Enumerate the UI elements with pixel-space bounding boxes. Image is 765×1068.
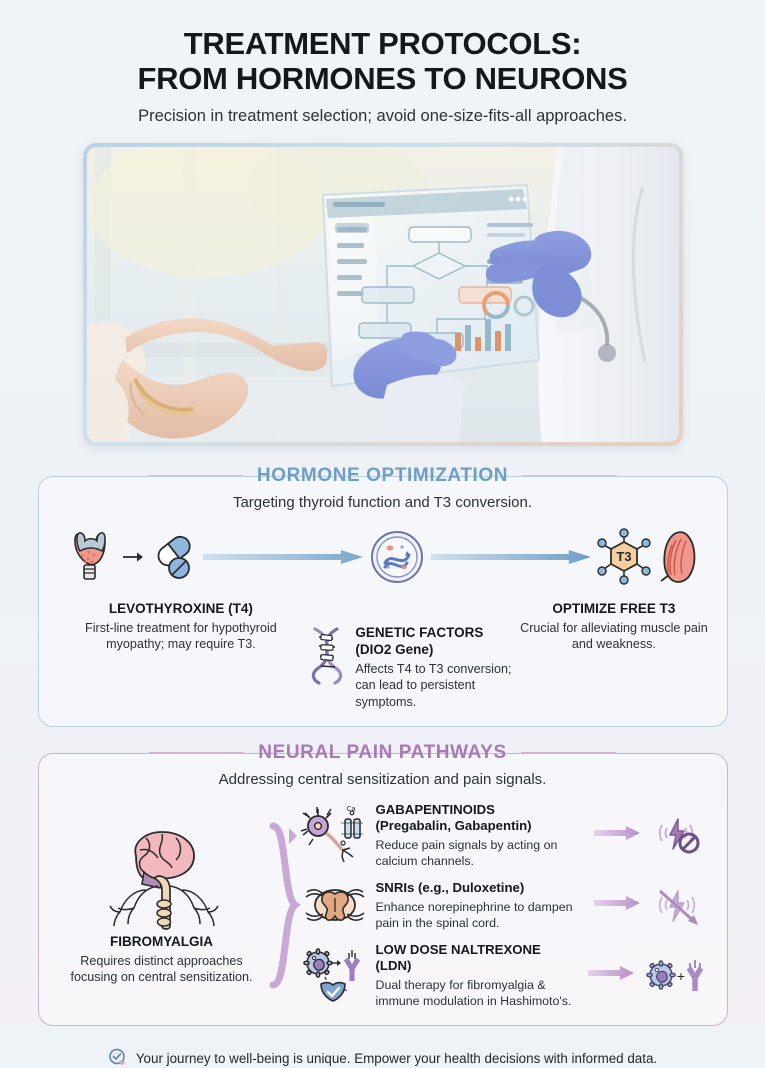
genetic-factors-label-2: (DIO2 Gene)	[355, 642, 519, 659]
treatment-rows: Ca GABAPENTINOIDS (Pregabalin, Gabapenti…	[303, 802, 707, 1009]
item-levothyroxine: LEVOTHYROXINE (T4) First-line treatment …	[57, 599, 306, 710]
hero-illustration	[87, 147, 679, 442]
thyroid-gland-icon	[65, 529, 115, 585]
snris-text: SNRIs (e.g., Duloxetine) Enhance norepin…	[376, 880, 585, 931]
infographic-page: Treatment Protocols: From Hormones to Ne…	[0, 0, 765, 1024]
t3-molecule-icon: T3	[597, 528, 651, 586]
neural-body: FIBROMYALGIA Requires distinct approache…	[39, 788, 727, 1025]
dna-helix-icon	[305, 625, 349, 685]
page-title: Treatment Protocols: From Hormones to Ne…	[0, 26, 765, 96]
section-title-hormone: Hormone Optimization	[243, 465, 522, 487]
pain-signal-blocked-icon	[654, 813, 704, 857]
rule-left	[148, 475, 243, 477]
ldn-desc: Dual therapy for fibromyalgia & immune m…	[376, 977, 579, 1009]
hormone-text-row: LEVOTHYROXINE (T4) First-line treatment …	[39, 595, 727, 726]
spinal-cord-cross-section-icon	[303, 882, 367, 928]
row-snris: SNRIs (e.g., Duloxetine) Enhance norepin…	[303, 880, 707, 931]
row-gabapentinoids: Ca GABAPENTINOIDS (Pregabalin, Gabapenti…	[303, 802, 707, 869]
snris-label: SNRIs (e.g., Duloxetine)	[376, 880, 585, 897]
footer-text: Your journey to well-being is unique. Em…	[136, 1051, 657, 1066]
rule-left	[149, 752, 244, 754]
rule-right	[522, 475, 617, 477]
optimize-t3-desc: Crucial for alleviating muscle pain and …	[519, 620, 708, 653]
snris-desc: Enhance norepinephrine to dampen pain in…	[376, 899, 585, 931]
brain-spinal-nerves-icon	[106, 826, 218, 930]
gabapentinoids-label-2: (Pregabalin, Gabapentin)	[376, 818, 585, 835]
fibromyalgia-desc: Requires distinct approaches focusing on…	[57, 953, 267, 986]
levothyroxine-label: LEVOTHYROXINE (T4)	[57, 601, 306, 618]
pain-signal-dampened-icon	[654, 883, 704, 927]
optimize-t3-label: OPTIMIZE FREE T3	[519, 601, 708, 618]
item-optimize-free-t3: OPTIMIZE FREE T3 Crucial for alleviating…	[519, 599, 708, 710]
neuron-calcium-channel-icon: Ca	[303, 807, 367, 863]
title-line-2: From Hormones to Neurons	[0, 61, 765, 96]
immune-cell-antibody-icon: +	[645, 953, 707, 997]
brace-icon	[271, 818, 299, 993]
plus-sign: +	[676, 968, 684, 984]
title-line-1: Treatment Protocols:	[184, 26, 582, 61]
section-header-neural: Neural Pain Pathways	[39, 742, 727, 764]
levothyroxine-icon-group	[65, 529, 197, 585]
gabapentinoids-text: GABAPENTINOIDS (Pregabalin, Gabapentin) …	[376, 802, 585, 869]
gabapentinoids-label-1: GABAPENTINOIDS	[376, 802, 585, 819]
footer: Your journey to well-being is unique. Em…	[38, 1048, 728, 1068]
ldn-text: LOW DOSE NALTREXONE (LDN) Dual therapy f…	[376, 942, 579, 1009]
row-low-dose-naltrexone: LOW DOSE NALTREXONE (LDN) Dual therapy f…	[303, 942, 707, 1009]
item-genetic-factors: GENETIC FACTORS (DIO2 Gene) Affects T4 t…	[305, 599, 519, 710]
hormone-icon-row: T3	[39, 511, 727, 595]
t3-molecule-label: T3	[616, 549, 631, 564]
optimize-t3-icon-group: T3	[597, 528, 701, 586]
row-arrow-icon	[588, 966, 634, 980]
section-neural-pain-pathways: Neural Pain Pathways Addressing central …	[38, 753, 728, 1026]
flow-arrow-2	[431, 550, 591, 564]
genetic-factors-label-1: GENETIC FACTORS	[355, 625, 519, 642]
rule-right	[521, 752, 616, 754]
row-arrow-icon	[594, 896, 640, 910]
section-subtitle-hormone: Targeting thyroid function and T3 conver…	[39, 494, 727, 511]
flow-arrow-1	[203, 550, 363, 564]
row-arrow-icon	[594, 826, 640, 840]
genetic-factors-desc: Affects T4 to T3 conversion; can lead to…	[355, 661, 519, 710]
ldn-label: LOW DOSE NALTREXONE (LDN)	[376, 942, 579, 975]
immune-cell-shield-icon	[303, 947, 367, 1003]
hero-image-frame	[83, 143, 683, 446]
pills-icon	[151, 533, 197, 581]
section-title-neural: Neural Pain Pathways	[244, 742, 520, 764]
hero-image	[87, 147, 679, 442]
section-header-hormone: Hormone Optimization	[39, 465, 727, 487]
calcium-ion-label: Ca	[346, 806, 355, 813]
muscle-icon	[657, 531, 701, 583]
section-subtitle-neural: Addressing central sensitization and pai…	[39, 771, 727, 788]
gabapentinoids-desc: Reduce pain signals by acting on calcium…	[376, 837, 585, 869]
levothyroxine-desc: First-line treatment for hypothyroid myo…	[57, 620, 306, 653]
section-hormone-optimization: Hormone Optimization Targeting thyroid f…	[38, 476, 728, 727]
cell-conversion-icon	[369, 529, 425, 585]
page-subtitle: Precision in treatment selection; avoid …	[0, 107, 765, 126]
check-circle-heart-icon	[108, 1048, 128, 1068]
fibromyalgia-label: FIBROMYALGIA	[57, 934, 267, 951]
header: Treatment Protocols: From Hormones to Ne…	[0, 0, 765, 126]
item-fibromyalgia: FIBROMYALGIA Requires distinct approache…	[57, 826, 267, 986]
arrow-right-icon	[121, 548, 145, 566]
